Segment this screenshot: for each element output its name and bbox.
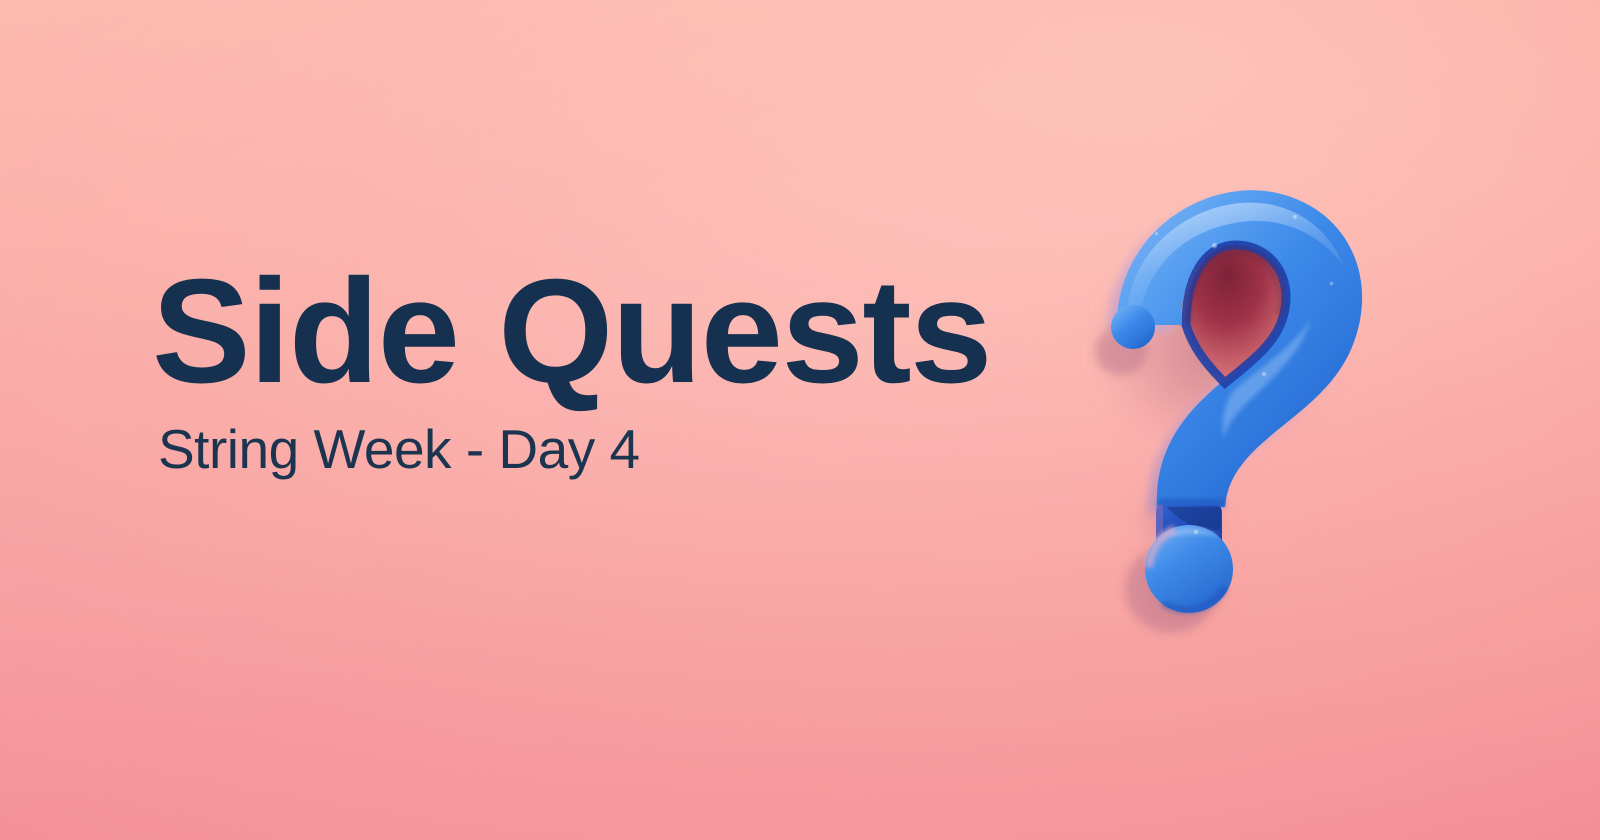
page-subtitle: String Week - Day 4	[158, 422, 991, 477]
banner: Side Quests String Week - Day 4	[0, 0, 1600, 840]
question-mark-icon	[1055, 155, 1385, 595]
title-block: Side Quests String Week - Day 4	[152, 258, 991, 477]
page-title: Side Quests	[152, 258, 991, 406]
